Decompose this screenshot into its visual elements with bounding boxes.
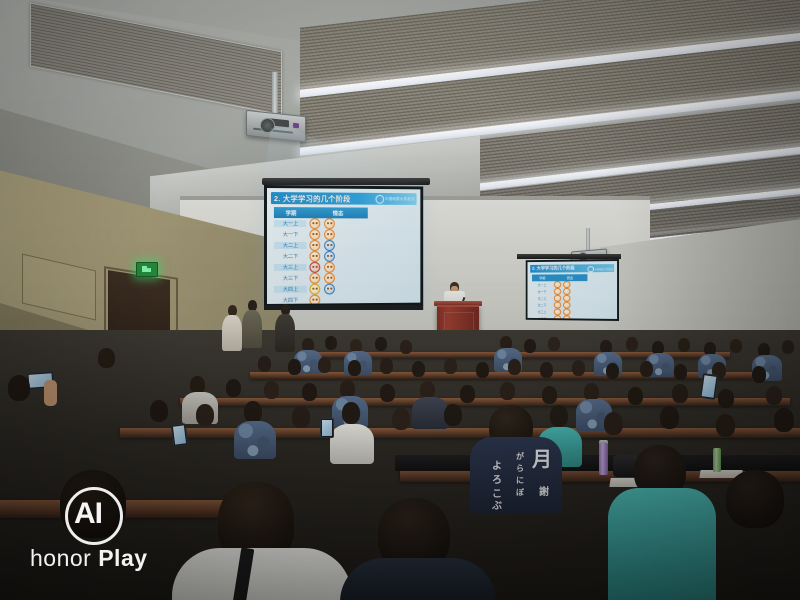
audience-head [292, 406, 310, 428]
cell-semester-2: 大一下 [532, 289, 552, 294]
foreground-body [340, 558, 496, 600]
tshirt-char-small: 謝 [539, 483, 549, 498]
audience-body [330, 424, 374, 464]
water-bottle [713, 448, 721, 472]
cell-semester: 大二下 [274, 253, 307, 260]
table-row: 大二下 [274, 251, 368, 262]
audience-head [660, 406, 679, 429]
emoji-face-icon [310, 251, 321, 262]
audience-body [0, 398, 48, 444]
cell-semester-2: 大三上 [532, 309, 552, 314]
audience-head [606, 363, 619, 379]
cell-semester: 大三上 [274, 264, 307, 271]
emoji-face-icon [325, 262, 336, 273]
audience-head [678, 338, 690, 352]
raised-phone [171, 423, 189, 447]
audience-head [244, 401, 262, 423]
university-seal-icon-2 [587, 266, 593, 272]
slide-table-header: 学期 情态 [274, 207, 368, 219]
presentation-slide: 2. 大学学习的几个阶段 中国地质大学武汉 学期 情态 大一上 大一下 [267, 188, 420, 304]
cell-semester-2: 大一上 [532, 282, 552, 287]
foreground-body [172, 548, 352, 600]
emoji-face-icon [310, 284, 321, 295]
audience-head [548, 337, 560, 351]
foreground-head [60, 470, 126, 538]
column-header-semester-2: 学期 [532, 274, 553, 281]
phone-screen [702, 375, 717, 397]
slide-table-2: 学期 情态 大一上 大一下 大二上 大二下 [532, 274, 587, 319]
standing-person-body [242, 310, 262, 348]
table-row: 大四下 [274, 294, 368, 304]
foreground-body [700, 518, 800, 600]
audience-head [716, 414, 735, 437]
cell-state [307, 251, 368, 262]
cell-semester: 大一上 [274, 220, 307, 227]
audience-head [348, 360, 361, 376]
second-projection-screen: 2. 大学学习的几个阶段 中国地质大学武汉 学期 情态 大一上 大一下 [526, 259, 619, 321]
phone-screen [173, 425, 186, 444]
cell-semester: 大一下 [274, 231, 307, 238]
slide-title-text-2: 2. 大学学习的几个阶段 [532, 265, 575, 271]
emoji-face-icon [310, 273, 321, 284]
emoji-face-icon [310, 295, 321, 304]
tshirt-col2-2: ら [516, 463, 524, 474]
audience-head [342, 402, 360, 424]
audience-head [412, 361, 425, 377]
slide-title-text: 2. 大学学习的几个阶段 [274, 193, 351, 204]
exit-sign [136, 262, 158, 277]
university-logo-text: 中国地质大学武汉 [385, 197, 415, 202]
phone-screen [322, 420, 332, 436]
tshirt-col2-1: が [516, 451, 524, 462]
table-row: 大一上 [274, 218, 368, 229]
emoji-face-icon [310, 262, 321, 273]
hand-holding-phone [44, 380, 57, 406]
emoji-face-icon [310, 218, 321, 229]
university-logo-text-2: 中国地质大学武汉 [594, 267, 612, 271]
tshirt-col3-4: ぶ [492, 497, 502, 512]
emoji-face-icon [310, 229, 321, 240]
presentation-slide-2: 2. 大学学习的几个阶段 中国地质大学武汉 学期 情态 大一上 大一下 [528, 261, 618, 319]
audience-head [540, 362, 553, 378]
audience-head [400, 340, 412, 354]
emoji-face-icon [563, 315, 570, 319]
audience-head [524, 339, 536, 353]
cell-semester-2: 大三下 [532, 316, 552, 319]
table-row: 大四上 [274, 284, 368, 296]
university-logo-2: 中国地质大学武汉 [587, 266, 612, 273]
audience-head [302, 383, 317, 401]
cell-semester-2: 大二下 [532, 303, 552, 308]
tshirt-char-big: 月 [532, 443, 552, 472]
cell-semester: 大四上 [274, 286, 307, 293]
audience-head [628, 387, 643, 405]
projector-mount-pole [272, 72, 278, 118]
emoji-face-icon [325, 229, 336, 240]
cell-state [307, 294, 368, 304]
audience-head [476, 362, 489, 378]
audience-head [226, 379, 241, 397]
lecture-hall-photo: 2. 大学学习的几个阶段 中国地质大学武汉 学期 情态 大一上 大一下 [0, 0, 800, 600]
cell-state [307, 229, 368, 240]
emoji-face-icon [325, 273, 336, 284]
table-row: 大二上 [274, 240, 368, 251]
raised-phone [699, 373, 718, 400]
audience-head [325, 336, 337, 350]
cell-state [307, 218, 368, 229]
cell-state [307, 273, 368, 284]
cell-semester: 大三下 [274, 275, 307, 282]
audience-head [550, 405, 568, 427]
slide-table: 学期 情态 大一上 大一下 大二上 大二下 [274, 207, 368, 304]
cell-semester: 大二上 [274, 242, 307, 249]
cell-state [307, 262, 368, 273]
university-seal-icon [375, 195, 384, 204]
audience-head [730, 339, 742, 353]
audience-head [380, 384, 395, 402]
audience-head [392, 408, 410, 430]
cell-state [307, 240, 368, 251]
audience-head [782, 340, 794, 354]
audience-head [288, 359, 301, 375]
audience-body [234, 421, 276, 459]
audience-head [674, 364, 687, 380]
table-row: 大一下 [274, 229, 368, 240]
projector-lens [260, 118, 275, 133]
audience-head [375, 337, 387, 351]
emoji-face-icon [325, 218, 336, 229]
tshirt-col2-4: ぼ [516, 487, 524, 498]
tshirt-col3-1: よ [492, 457, 502, 472]
japanese-text-tshirt: 月 謝 が ら に ぼ よ ろ こ ぶ [470, 437, 562, 513]
standing-person-body [222, 315, 242, 351]
audience-head [626, 337, 638, 351]
university-logo: 中国地质大学武汉 [375, 195, 414, 204]
audience-body [762, 430, 800, 474]
standing-person-body [275, 314, 295, 352]
slide-title-bar: 2. 大学学习的几个阶段 中国地质大学武汉 [271, 192, 417, 205]
audience-head [774, 408, 794, 432]
audience-body [88, 366, 128, 400]
audience-head [196, 404, 214, 426]
table-row: 大三上 [274, 262, 368, 273]
emoji-face-icon [325, 251, 336, 262]
audience-head [98, 348, 115, 368]
tshirt-col3-2: ろ [492, 471, 502, 486]
audience-head [604, 412, 623, 435]
emoji-face-icon [325, 284, 336, 295]
audience-body [412, 397, 448, 429]
main-projection-screen: 2. 大学学习的几个阶段 中国地质大学武汉 学期 情态 大一上 大一下 [264, 185, 423, 307]
screen-roller-housing [262, 178, 430, 185]
audience-head [444, 404, 462, 426]
foreground-body [16, 530, 176, 600]
cell-semester-2: 大二上 [532, 296, 552, 301]
tshirt-col2-3: に [516, 475, 524, 486]
raised-phone [320, 418, 334, 438]
emoji-face-icon [310, 240, 321, 251]
cell-semester: 大四下 [274, 297, 307, 304]
emoji-face-icon [554, 315, 561, 319]
audience-head [718, 389, 734, 408]
emoji-face-icon [325, 240, 336, 251]
slide-title-bar-2: 2. 大学学习的几个阶段 中国地质大学武汉 [530, 264, 614, 273]
column-header-semester: 学期 [274, 207, 308, 218]
water-bottle [599, 443, 608, 475]
audience-head [542, 386, 557, 404]
cell-state [307, 284, 368, 295]
column-header-state: 情态 [308, 207, 368, 218]
table-row: 大三下 [274, 273, 368, 284]
audience-head [150, 400, 168, 422]
table-row-2: 大三下 [532, 315, 587, 319]
audience-head [460, 385, 475, 403]
